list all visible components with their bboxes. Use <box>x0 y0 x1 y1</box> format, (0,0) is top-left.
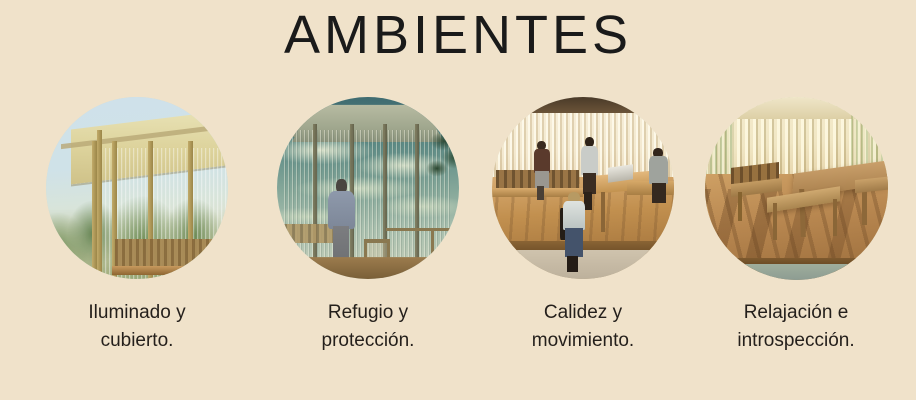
seated-person <box>532 141 552 199</box>
person-torso <box>649 156 668 184</box>
gallery-item-caption: Iluminado y cubierto. <box>24 299 250 354</box>
gallery-item-caption: Relajación e introspección. <box>681 299 911 354</box>
person-torso <box>534 149 551 173</box>
gallery-item-caption: Calidez y movimiento. <box>470 299 696 354</box>
foliage-layer <box>401 130 459 192</box>
standing-person <box>328 179 355 261</box>
interior-figure-teal-sky-render-image <box>277 97 459 279</box>
wooden-floor <box>288 257 448 279</box>
frame-post <box>92 141 97 279</box>
gallery-item-caption: Refugio y protección. <box>255 299 481 354</box>
person-legs <box>652 183 666 204</box>
warm-wooden-interior-people-render-image <box>492 97 674 279</box>
frame-post <box>97 130 102 279</box>
person-shoes <box>567 256 578 272</box>
person-shoes <box>537 186 544 200</box>
person-torso <box>328 191 354 229</box>
ambientes-gallery: Iluminado y cubierto. <box>0 0 916 400</box>
slide-canvas: AMBIENTES Iluminado y cubi <box>0 0 916 400</box>
person-torso <box>563 201 585 230</box>
person-legs <box>333 226 349 262</box>
dark-ceiling-band <box>492 97 674 113</box>
bench-back <box>115 239 224 268</box>
person-legs <box>565 228 582 257</box>
empty-deck-table-benches-render-image <box>705 97 888 280</box>
person-torso <box>581 146 598 175</box>
walking-person <box>561 192 586 272</box>
bench-leg <box>773 203 777 240</box>
handrail-post <box>431 228 434 261</box>
bench-leg <box>833 199 837 236</box>
pavilion-canopy-render-image <box>46 97 228 279</box>
ground-surface <box>705 264 888 280</box>
bench-leg <box>288 239 291 261</box>
handrail <box>386 228 455 231</box>
bench-seat <box>112 266 210 275</box>
table-leg <box>601 192 605 232</box>
bench-leg <box>738 192 742 221</box>
person-at-table-right <box>649 148 671 217</box>
